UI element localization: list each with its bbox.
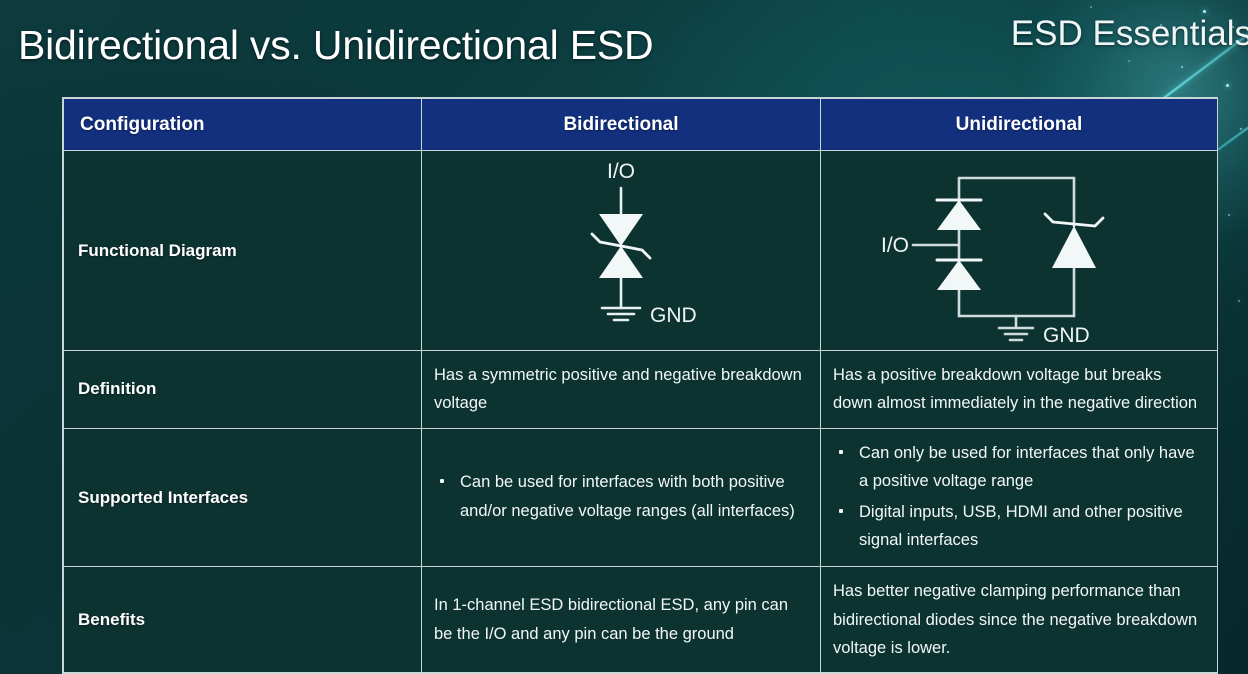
bidirectional-bullet-list: Can be used for interfaces with both pos… bbox=[434, 468, 806, 525]
bidirectional-gnd-label: GND bbox=[650, 304, 697, 327]
star-dot bbox=[1226, 84, 1229, 87]
unidirectional-gnd-label: GND bbox=[1043, 324, 1090, 346]
comparison-table-wrapper: Configuration Bidirectional Unidirection… bbox=[62, 97, 1218, 674]
table-header: Configuration Bidirectional Unidirection… bbox=[64, 99, 1218, 151]
unidirectional-diagram-cell: I/O GND bbox=[821, 151, 1218, 351]
star-dot bbox=[1181, 66, 1183, 68]
series-title: ESD Essentials bbox=[1011, 14, 1248, 54]
unidirectional-bullet-list: Can only be used for interfaces that onl… bbox=[833, 439, 1203, 555]
bidirectional-io-label: I/O bbox=[607, 160, 635, 183]
bidirectional-diagram-cell: I/O GND bbox=[422, 151, 821, 351]
unidirectional-tvs-circuit-icon: I/O GND bbox=[879, 156, 1159, 346]
star-dot bbox=[1228, 214, 1230, 216]
column-header-unidirectional: Unidirectional bbox=[821, 99, 1218, 151]
table-body: Functional Diagram bbox=[64, 151, 1218, 673]
table-row-supported-interfaces: Supported Interfaces Can be used for int… bbox=[64, 428, 1218, 567]
page-title: Bidirectional vs. Unidirectional ESD bbox=[18, 22, 653, 69]
supported-interfaces-unidirectional-cell: Can only be used for interfaces that onl… bbox=[821, 428, 1218, 567]
steering-diode-upper bbox=[937, 200, 981, 230]
zener-tvs-triangle bbox=[1052, 226, 1096, 268]
row-label-definition: Definition bbox=[64, 351, 422, 429]
table-header-row: Configuration Bidirectional Unidirection… bbox=[64, 99, 1218, 151]
slide-root: Bidirectional vs. Unidirectional ESD ESD… bbox=[0, 0, 1248, 674]
definition-unidirectional-cell: Has a positive breakdown voltage but bre… bbox=[821, 351, 1218, 429]
list-item: Can only be used for interfaces that onl… bbox=[833, 439, 1203, 496]
steering-diode-lower bbox=[937, 260, 981, 290]
star-dot bbox=[1090, 6, 1092, 8]
unidirectional-circuit-holder: I/O GND bbox=[821, 151, 1217, 350]
tvs-upper-triangle bbox=[599, 214, 643, 246]
bidirectional-circuit-holder: I/O GND bbox=[422, 151, 820, 350]
row-label-supported-interfaces: Supported Interfaces bbox=[64, 428, 422, 567]
list-item: Can be used for interfaces with both pos… bbox=[434, 468, 806, 525]
table-row-functional-diagram: Functional Diagram bbox=[64, 151, 1218, 351]
benefits-bidirectional-cell: In 1-channel ESD bidirectional ESD, any … bbox=[422, 567, 821, 673]
column-header-configuration: Configuration bbox=[64, 99, 422, 151]
star-dot bbox=[1128, 60, 1130, 62]
comparison-table: Configuration Bidirectional Unidirection… bbox=[63, 98, 1218, 673]
table-row-benefits: Benefits In 1-channel ESD bidirectional … bbox=[64, 567, 1218, 673]
tvs-lower-triangle bbox=[599, 246, 643, 278]
unidirectional-io-label: I/O bbox=[881, 234, 909, 257]
supported-interfaces-bidirectional-cell: Can be used for interfaces with both pos… bbox=[422, 428, 821, 567]
star-dot bbox=[1240, 128, 1242, 130]
bidirectional-tvs-circuit-icon: I/O GND bbox=[516, 156, 726, 346]
row-label-benefits: Benefits bbox=[64, 567, 422, 673]
column-header-bidirectional: Bidirectional bbox=[422, 99, 821, 151]
star-dot bbox=[1203, 10, 1206, 13]
star-dot bbox=[1238, 300, 1240, 302]
row-label-functional-diagram: Functional Diagram bbox=[64, 151, 422, 351]
definition-bidirectional-cell: Has a symmetric positive and negative br… bbox=[422, 351, 821, 429]
list-item: Digital inputs, USB, HDMI and other posi… bbox=[833, 498, 1203, 555]
table-row-definition: Definition Has a symmetric positive and … bbox=[64, 351, 1218, 429]
benefits-unidirectional-cell: Has better negative clamping performance… bbox=[821, 567, 1218, 673]
